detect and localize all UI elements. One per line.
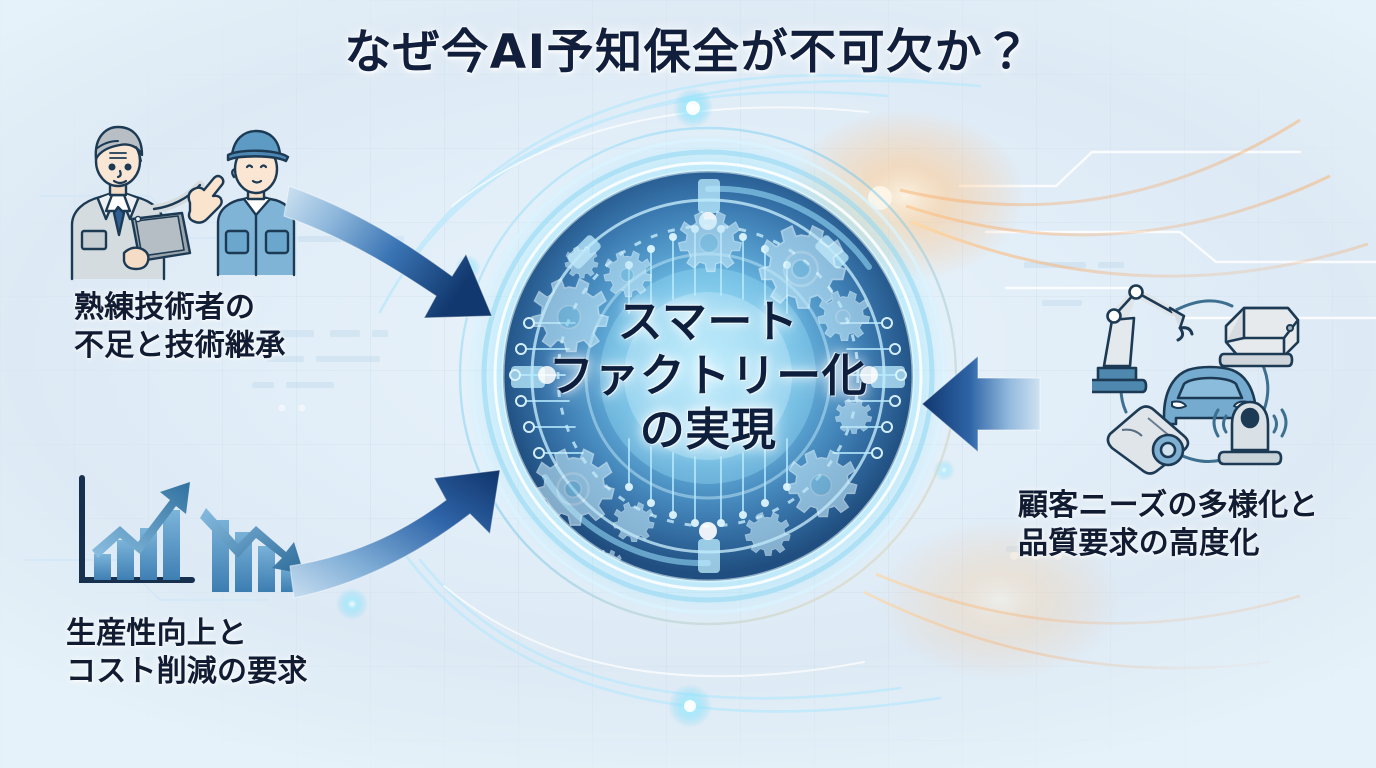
senior-engineer-icon [72, 127, 200, 279]
young-worker-icon [218, 131, 294, 275]
label-customer-needs-quality-line-1: 顧客ニーズの多様化と [1018, 487, 1319, 525]
label-productivity-cost-line-1: 生産性向上と [66, 615, 308, 653]
label-customer-needs-quality-line-2: 品質要求の高度化 [1018, 525, 1319, 563]
label-skilled-worker-shortage: 熟練技術者の 不足と技術継承 [74, 289, 285, 365]
label-customer-needs-quality: 顧客ニーズの多様化と 品質要求の高度化 [1018, 487, 1319, 563]
label-skilled-worker-shortage-line-2: 不足と技術継承 [74, 327, 285, 365]
page-title: なぜ今AI予知保全が不可欠か？ [0, 13, 1376, 82]
label-skilled-worker-shortage-line-1: 熟練技術者の [74, 289, 285, 327]
illustration-connected-factory-devices [1092, 272, 1360, 484]
illustration-growth-and-cost-charts [62, 468, 320, 600]
hub-graphic [449, 117, 967, 635]
illustration-senior-engineer-and-young-worker [58, 103, 298, 293]
industrial-machine-icon [1220, 308, 1298, 366]
smart-factory-hub: スマート ファクトリー化 の実現 [449, 117, 967, 635]
label-productivity-cost: 生産性向上と コスト削減の要求 [66, 615, 308, 691]
infographic-canvas: なぜ今AI予知保全が不可欠か？ [0, 0, 1376, 768]
label-productivity-cost-line-2: コスト削減の要求 [66, 653, 308, 691]
